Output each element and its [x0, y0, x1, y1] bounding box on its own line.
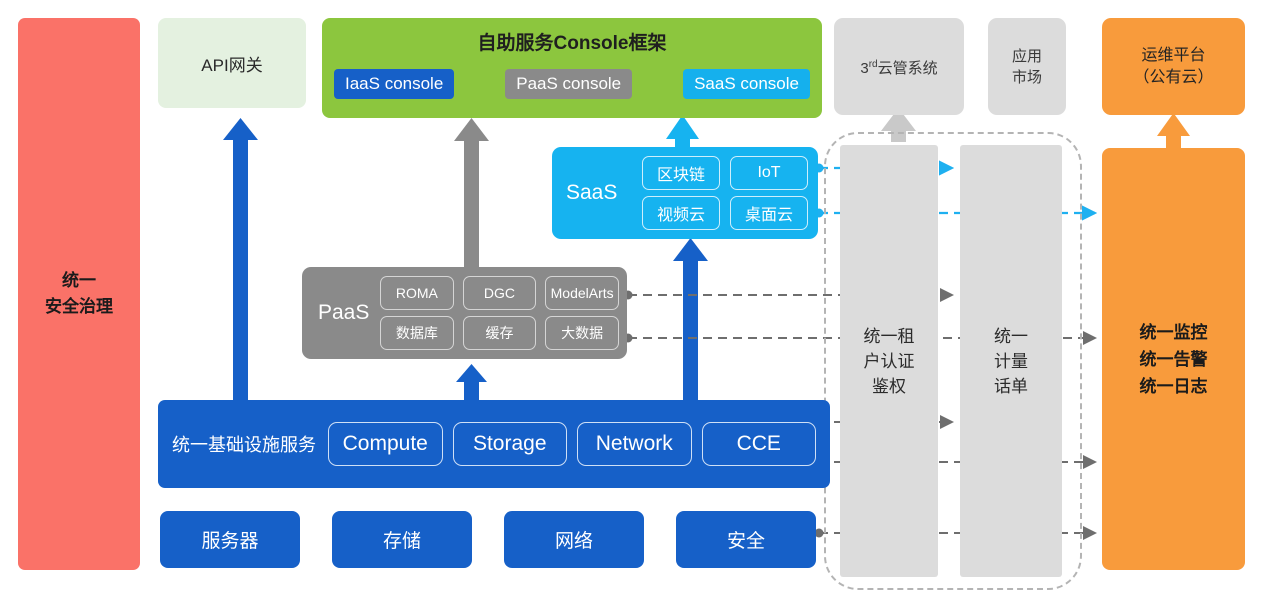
chip-paas-modelarts[interactable]: ModelArts [545, 276, 619, 310]
arrow-infra-to-saas [673, 238, 708, 401]
ops-line-2: 统一告警 [1140, 346, 1208, 373]
pill-paas-console[interactable]: PaaS console [505, 69, 632, 99]
console-framework-title: 自助服务Console框架 [322, 28, 822, 55]
infra-chip-row: Compute Storage Network CCE [328, 422, 816, 466]
security-line-1: 统一 [45, 268, 113, 294]
chip-infra-storage[interactable]: Storage [453, 422, 568, 466]
column-unified-auth[interactable]: 统一租 户认证 鉴权 [840, 145, 938, 577]
saas-chip-grid: 区块链 IoT 视频云 桌面云 [642, 156, 808, 230]
ops-line-1: 统一监控 [1140, 319, 1208, 346]
third-party-prefix: 3 [860, 60, 868, 77]
meter-line-1: 统一 [994, 324, 1028, 349]
chip-infra-cce-label: CCE [737, 432, 781, 456]
chip-paas-bigdata[interactable]: 大数据 [545, 316, 619, 350]
box-third-party-cloud-mgmt[interactable]: 3rd云管系统 [834, 18, 964, 115]
chip-infra-network-label: Network [596, 432, 673, 456]
chip-infra-storage-label: Storage [473, 432, 547, 456]
chip-paas-database[interactable]: 数据库 [380, 316, 454, 350]
panel-unified-security[interactable]: 统一 安全治理 [18, 18, 140, 570]
box-saas-layer[interactable]: SaaS 区块链 IoT 视频云 桌面云 [552, 147, 818, 239]
chip-paas-dgc-label: DGC [484, 285, 515, 301]
box-resource-network[interactable]: 网络 [504, 511, 644, 568]
saas-label: SaaS [566, 147, 617, 239]
chip-saas-blockchain-label: 区块链 [657, 161, 705, 185]
arrow-infra-to-paas [456, 364, 487, 401]
chip-saas-video-cloud-label: 视频云 [657, 201, 705, 225]
box-ops-platform-public-cloud[interactable]: 运维平台 （公有云） [1102, 18, 1245, 115]
auth-line-2: 户认证 [864, 349, 915, 374]
box-console-framework[interactable]: 自助服务Console框架 IaaS console PaaS console … [322, 18, 822, 118]
chip-saas-desktop-cloud-label: 桌面云 [745, 201, 793, 225]
infra-label: 统一基础设施服务 [172, 431, 316, 457]
third-party-suffix: 云管系统 [878, 60, 938, 77]
chip-saas-iot[interactable]: IoT [730, 156, 808, 190]
arrow-to-ops-platform [1157, 113, 1190, 148]
chip-paas-dgc[interactable]: DGC [463, 276, 537, 310]
chip-infra-network[interactable]: Network [577, 422, 692, 466]
chip-infra-compute[interactable]: Compute [328, 422, 443, 466]
chip-saas-blockchain[interactable]: 区块链 [642, 156, 720, 190]
box-resource-security[interactable]: 安全 [676, 511, 816, 568]
box-resource-server[interactable]: 服务器 [160, 511, 300, 568]
chip-paas-cache[interactable]: 缓存 [463, 316, 537, 350]
meter-line-3: 话单 [994, 374, 1028, 399]
paas-label: PaaS [318, 267, 369, 359]
chip-paas-database-label: 数据库 [396, 323, 438, 343]
chip-paas-bigdata-label: 大数据 [561, 323, 603, 343]
box-unified-infrastructure[interactable]: 统一基础设施服务 Compute Storage Network CCE [158, 400, 830, 488]
third-party-superscript: rd [869, 59, 878, 70]
console-pill-row: IaaS console PaaS console SaaS console [334, 62, 810, 106]
ops-line-3: 统一日志 [1140, 373, 1208, 400]
resource-server-label: 服务器 [201, 526, 258, 553]
resource-network-label: 网络 [555, 526, 593, 553]
pill-saas-console[interactable]: SaaS console [683, 69, 810, 99]
chip-paas-modelarts-label: ModelArts [551, 285, 614, 301]
box-paas-layer[interactable]: PaaS ROMA DGC ModelArts 数据库 缓存 大数据 [302, 267, 627, 359]
column-unified-metering[interactable]: 统一 计量 话单 [960, 145, 1062, 577]
auth-line-1: 统一租 [864, 324, 915, 349]
ops-platform-line-2: （公有云） [1133, 67, 1213, 89]
chip-paas-cache-label: 缓存 [485, 323, 513, 343]
arrow-infra-to-api [223, 118, 258, 400]
arrow-paas-to-console [454, 118, 489, 268]
box-api-gateway[interactable]: API网关 [158, 18, 306, 108]
chip-saas-iot-label: IoT [757, 164, 780, 182]
chip-infra-compute-label: Compute [343, 432, 428, 456]
ops-platform-line-1: 运维平台 [1133, 45, 1213, 67]
saas-console-label: SaaS console [694, 74, 799, 94]
chip-paas-roma[interactable]: ROMA [380, 276, 454, 310]
chip-infra-cce[interactable]: CCE [702, 422, 817, 466]
paas-chip-grid: ROMA DGC ModelArts 数据库 缓存 大数据 [380, 276, 619, 350]
box-app-market[interactable]: 应用 市场 [988, 18, 1066, 115]
chip-saas-video-cloud[interactable]: 视频云 [642, 196, 720, 230]
third-party-label: 3rd云管系统 [860, 54, 937, 79]
chip-paas-roma-label: ROMA [396, 285, 438, 301]
panel-unified-ops[interactable]: 统一监控 统一告警 统一日志 [1102, 148, 1245, 570]
box-resource-storage[interactable]: 存储 [332, 511, 472, 568]
resource-storage-label: 存储 [383, 526, 421, 553]
paas-console-label: PaaS console [516, 74, 621, 94]
resource-security-label: 安全 [727, 526, 765, 553]
app-market-line-2: 市场 [1012, 67, 1042, 88]
app-market-line-1: 应用 [1012, 46, 1042, 67]
pill-iaas-console[interactable]: IaaS console [334, 69, 454, 99]
meter-line-2: 计量 [994, 349, 1028, 374]
security-line-2: 安全治理 [45, 294, 113, 320]
arrow-saas-to-console [666, 115, 699, 149]
chip-saas-desktop-cloud[interactable]: 桌面云 [730, 196, 808, 230]
iaas-console-label: IaaS console [345, 74, 443, 94]
architecture-diagram: 统一租 户认证 鉴权 统一 计量 话单 统一 安全治理 统一监控 统一告警 统一… [0, 0, 1265, 605]
api-gateway-label: API网关 [201, 51, 262, 76]
auth-line-3: 鉴权 [864, 374, 915, 399]
